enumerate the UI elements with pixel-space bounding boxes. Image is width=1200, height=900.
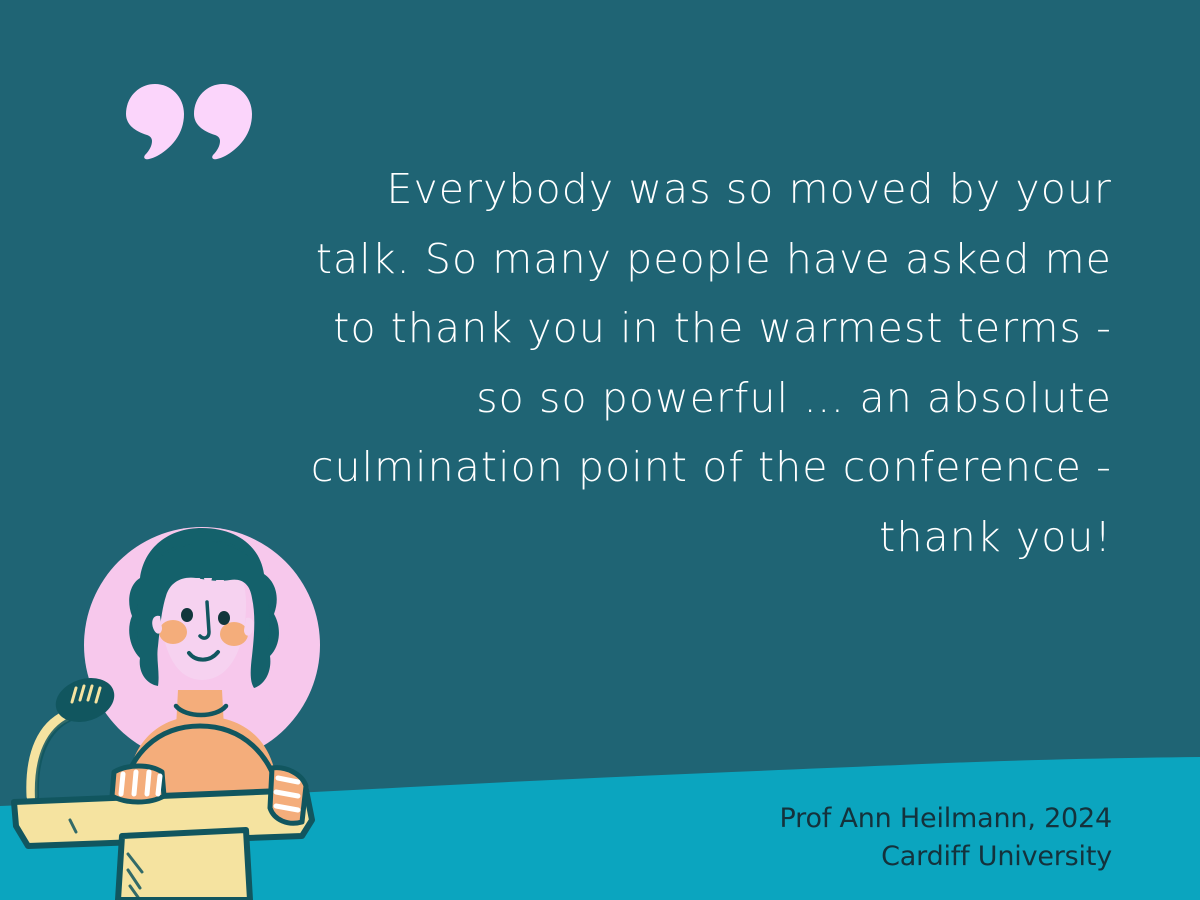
quote-line: talk. So many people have asked me bbox=[300, 225, 1112, 295]
right-eye bbox=[218, 611, 230, 625]
left-eye bbox=[181, 608, 193, 622]
right-hand bbox=[270, 768, 306, 824]
left-cheek-blush bbox=[159, 620, 187, 644]
attribution-institution: Cardiff University bbox=[600, 838, 1112, 876]
neck-skin bbox=[176, 690, 224, 728]
right-cheek-blush bbox=[220, 622, 248, 646]
opening-quote-icon bbox=[126, 84, 252, 162]
quote-line: culmination point of the conference - bbox=[300, 433, 1112, 503]
left-hand bbox=[112, 766, 164, 802]
attribution-name-year: Prof Ann Heilmann, 2024 bbox=[600, 800, 1112, 838]
quote-text-block: Everybody was so moved by your talk. So … bbox=[300, 155, 1112, 572]
speaker-at-podium-illustration bbox=[10, 520, 370, 900]
testimonial-quote-card: Everybody was so moved by your talk. So … bbox=[0, 0, 1200, 900]
quote-line: thank you! bbox=[300, 503, 1112, 573]
attribution-block: Prof Ann Heilmann, 2024 Cardiff Universi… bbox=[600, 800, 1112, 876]
quote-line: so so powerful … an absolute bbox=[300, 364, 1112, 434]
quote-line: to thank you in the warmest terms - bbox=[300, 294, 1112, 364]
quote-line: Everybody was so moved by your bbox=[300, 155, 1112, 225]
